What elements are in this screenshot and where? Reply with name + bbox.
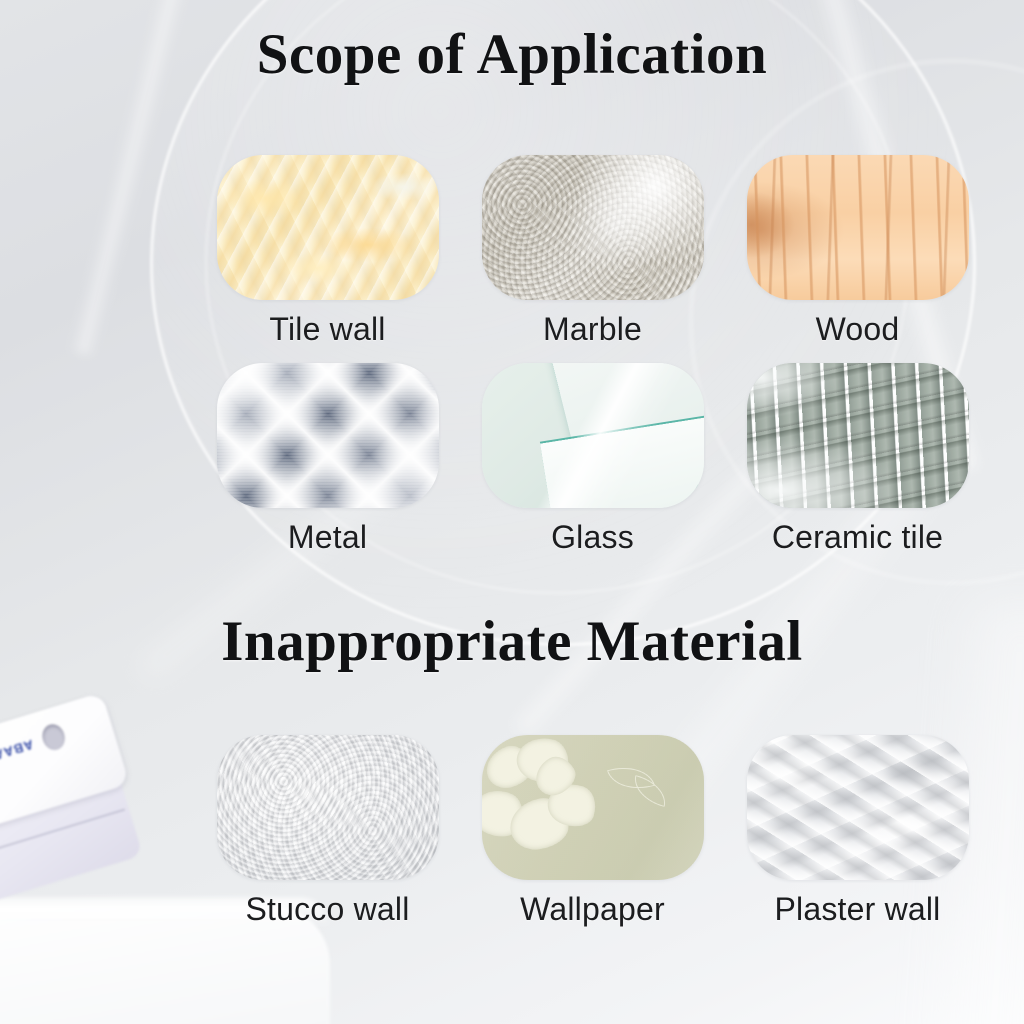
material-cell-wallpaper[interactable]: Wallpaper (470, 735, 715, 925)
material-label-wood: Wood (735, 313, 980, 345)
material-cell-tile-wall[interactable]: Tile wall (205, 155, 450, 345)
material-swatch-stucco-wall[interactable] (217, 735, 439, 880)
package-hang-hole (39, 721, 68, 752)
material-grid-scope-of-application: Tile wall Marble Wood Metal (205, 155, 1005, 553)
mosaic-white-fade (747, 363, 969, 508)
material-grid-inappropriate-material: Stucco wall Wallpaper P (205, 735, 1005, 925)
texture-plaster-wall (747, 735, 969, 880)
material-swatch-tile-wall[interactable] (217, 155, 439, 300)
product-package: ABAAE ABAAE Caulking (0, 692, 154, 920)
material-cell-wood[interactable]: Wood (735, 155, 980, 345)
material-cell-ceramic-tile[interactable]: Ceramic tile (735, 363, 980, 553)
material-label-ceramic-tile: Ceramic tile (735, 521, 980, 553)
material-cell-metal[interactable]: Metal (205, 363, 450, 553)
material-label-tile-wall: Tile wall (205, 313, 450, 345)
material-cell-marble[interactable]: Marble (470, 155, 715, 345)
texture-marble (482, 155, 704, 300)
material-swatch-plaster-wall[interactable] (747, 735, 969, 880)
texture-stucco-wall (217, 735, 439, 880)
material-label-stucco-wall: Stucco wall (205, 893, 450, 925)
texture-metal (217, 363, 439, 508)
section-title-inappropriate-material: Inappropriate Material (0, 609, 1024, 674)
material-swatch-metal[interactable] (217, 363, 439, 508)
material-cell-stucco-wall[interactable]: Stucco wall (205, 735, 450, 925)
texture-tile-wall (217, 155, 439, 300)
texture-glass (482, 363, 704, 508)
material-swatch-glass[interactable] (482, 363, 704, 508)
material-cell-plaster-wall[interactable]: Plaster wall (735, 735, 980, 925)
material-swatch-wood[interactable] (747, 155, 969, 300)
texture-ceramic-tile (747, 363, 969, 508)
material-label-wallpaper: Wallpaper (470, 893, 715, 925)
material-label-plaster-wall: Plaster wall (735, 893, 980, 925)
material-swatch-wallpaper[interactable] (482, 735, 704, 880)
texture-wallpaper (482, 735, 704, 880)
texture-wood (747, 155, 969, 300)
material-label-metal: Metal (205, 521, 450, 553)
material-label-marble: Marble (470, 313, 715, 345)
material-label-glass: Glass (470, 521, 715, 553)
material-cell-glass[interactable]: Glass (470, 363, 715, 553)
material-swatch-ceramic-tile[interactable] (747, 363, 969, 508)
glass-highlight (482, 363, 704, 508)
material-swatch-marble[interactable] (482, 155, 704, 300)
section-title-scope-of-application: Scope of Application (0, 22, 1024, 87)
infographic-canvas: ABAAE ABAAE Caulking Scope of Applicatio… (0, 0, 1024, 1024)
package-brand-text-secondary: ABAAE (0, 737, 35, 766)
